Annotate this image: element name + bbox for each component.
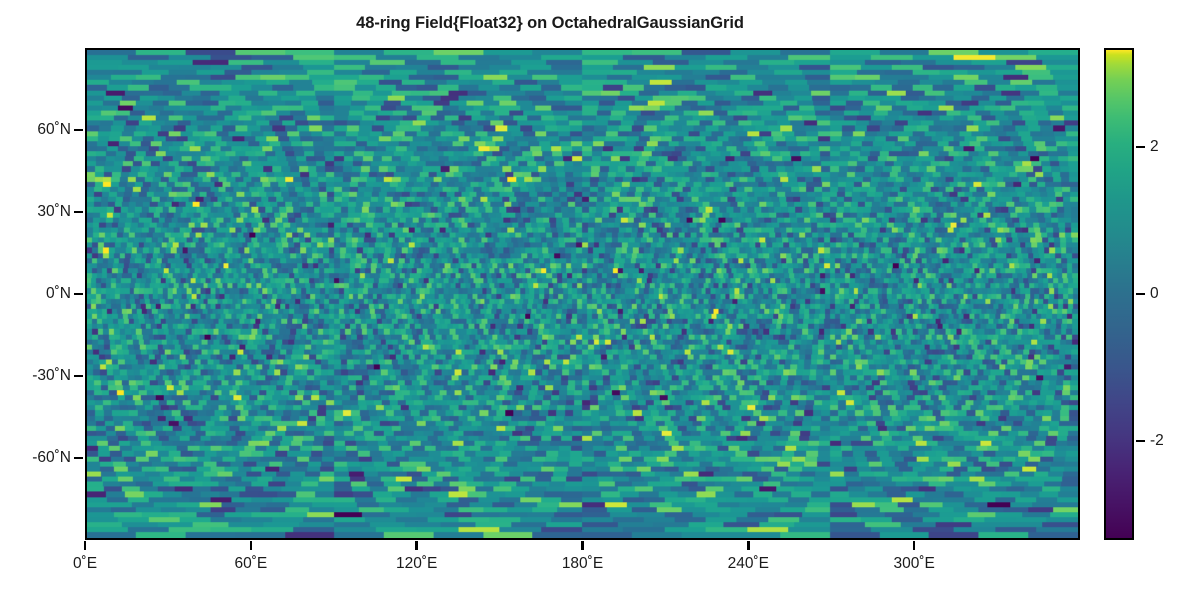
colorbar-tick-label: 2	[1150, 138, 1159, 156]
x-tick-mark	[581, 541, 584, 550]
y-tick-mark	[74, 211, 83, 214]
heatmap-canvas	[87, 50, 1078, 538]
colorbar[interactable]	[1104, 48, 1134, 540]
y-tick-label: 0˚N	[46, 285, 71, 303]
x-tick-label: 300˚E	[893, 555, 934, 573]
y-tick-mark	[74, 129, 83, 132]
x-tick-label: 240˚E	[728, 555, 769, 573]
colorbar-tick-mark	[1136, 293, 1145, 296]
y-tick-label: 60˚N	[37, 121, 71, 139]
y-tick-mark	[74, 375, 83, 378]
x-tick-mark	[415, 541, 418, 550]
x-tick-mark	[747, 541, 750, 550]
colorbar-tick-label: -2	[1150, 432, 1164, 450]
chart-title: 48-ring Field{Float32} on OctahedralGaus…	[0, 14, 1100, 33]
x-tick-label: 0˚E	[73, 555, 97, 573]
y-tick-mark	[74, 293, 83, 296]
y-tick-label: 30˚N	[37, 203, 71, 221]
x-tick-mark	[913, 541, 916, 550]
colorbar-tick-mark	[1136, 146, 1145, 149]
colorbar-tick-label: 0	[1150, 285, 1159, 303]
chart-figure: 48-ring Field{Float32} on OctahedralGaus…	[0, 0, 1190, 600]
y-tick-label: -30˚N	[32, 367, 71, 385]
x-tick-mark	[250, 541, 253, 550]
colorbar-tick-mark	[1136, 440, 1145, 443]
y-tick-label: -60˚N	[32, 449, 71, 467]
heatmap-plot-area	[85, 48, 1080, 540]
y-tick-mark	[74, 457, 83, 460]
x-tick-label: 60˚E	[234, 555, 267, 573]
x-tick-mark	[84, 541, 87, 550]
x-tick-label: 180˚E	[562, 555, 603, 573]
x-tick-label: 120˚E	[396, 555, 437, 573]
